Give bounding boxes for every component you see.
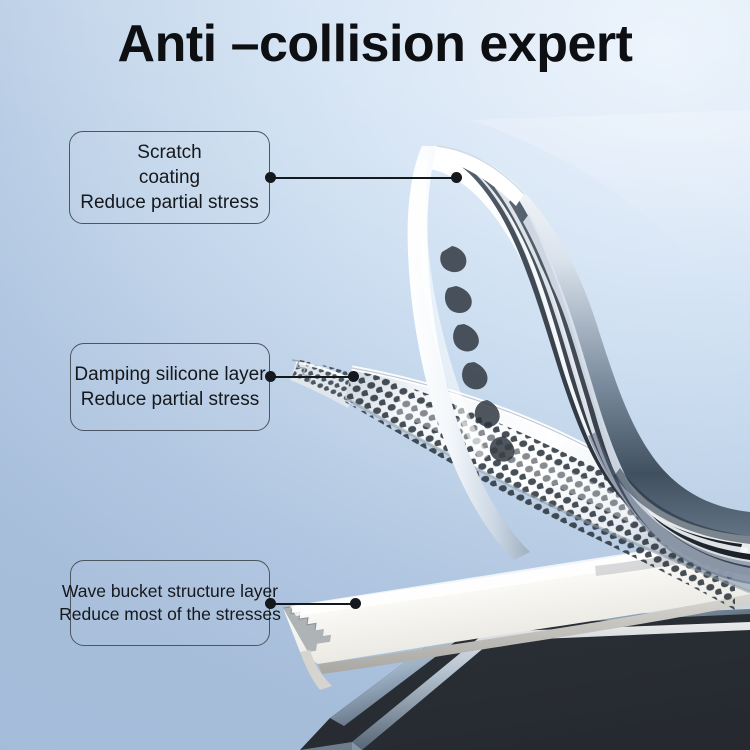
leader-line-wave-bucket — [270, 598, 356, 610]
leader-dot-start — [265, 172, 276, 183]
callout-damping-silicone[interactable]: Damping silicone layer Reduce partial st… — [70, 343, 270, 431]
leader-line-damping-silicone — [270, 371, 354, 383]
callout-line: coating — [139, 165, 200, 190]
leader-dot-start — [265, 598, 276, 609]
callout-wave-bucket[interactable]: Wave bucket structure layer Reduce most … — [70, 560, 270, 646]
product-feature-poster: Anti –collision expert — [0, 0, 750, 750]
leader-dot-end — [451, 172, 462, 183]
leader-bar — [270, 177, 457, 179]
leader-line-scratch-coating — [270, 172, 457, 184]
leader-dot-start — [265, 371, 276, 382]
leader-dot-end — [348, 371, 359, 382]
callout-line: Scratch — [137, 140, 201, 165]
callout-line: Damping silicone layer — [74, 362, 265, 387]
page-title: Anti –collision expert — [0, 14, 750, 74]
callout-scratch-coating[interactable]: Scratch coating Reduce partial stress — [69, 131, 270, 224]
leader-dot-end — [350, 598, 361, 609]
callout-line: Reduce partial stress — [80, 190, 258, 215]
callout-line: Wave bucket structure layer — [62, 580, 278, 603]
callout-line: Reduce partial stress — [81, 387, 259, 412]
callout-line: Reduce most of the stresses — [59, 603, 281, 626]
leader-bar — [270, 603, 356, 605]
leader-bar — [270, 376, 354, 378]
